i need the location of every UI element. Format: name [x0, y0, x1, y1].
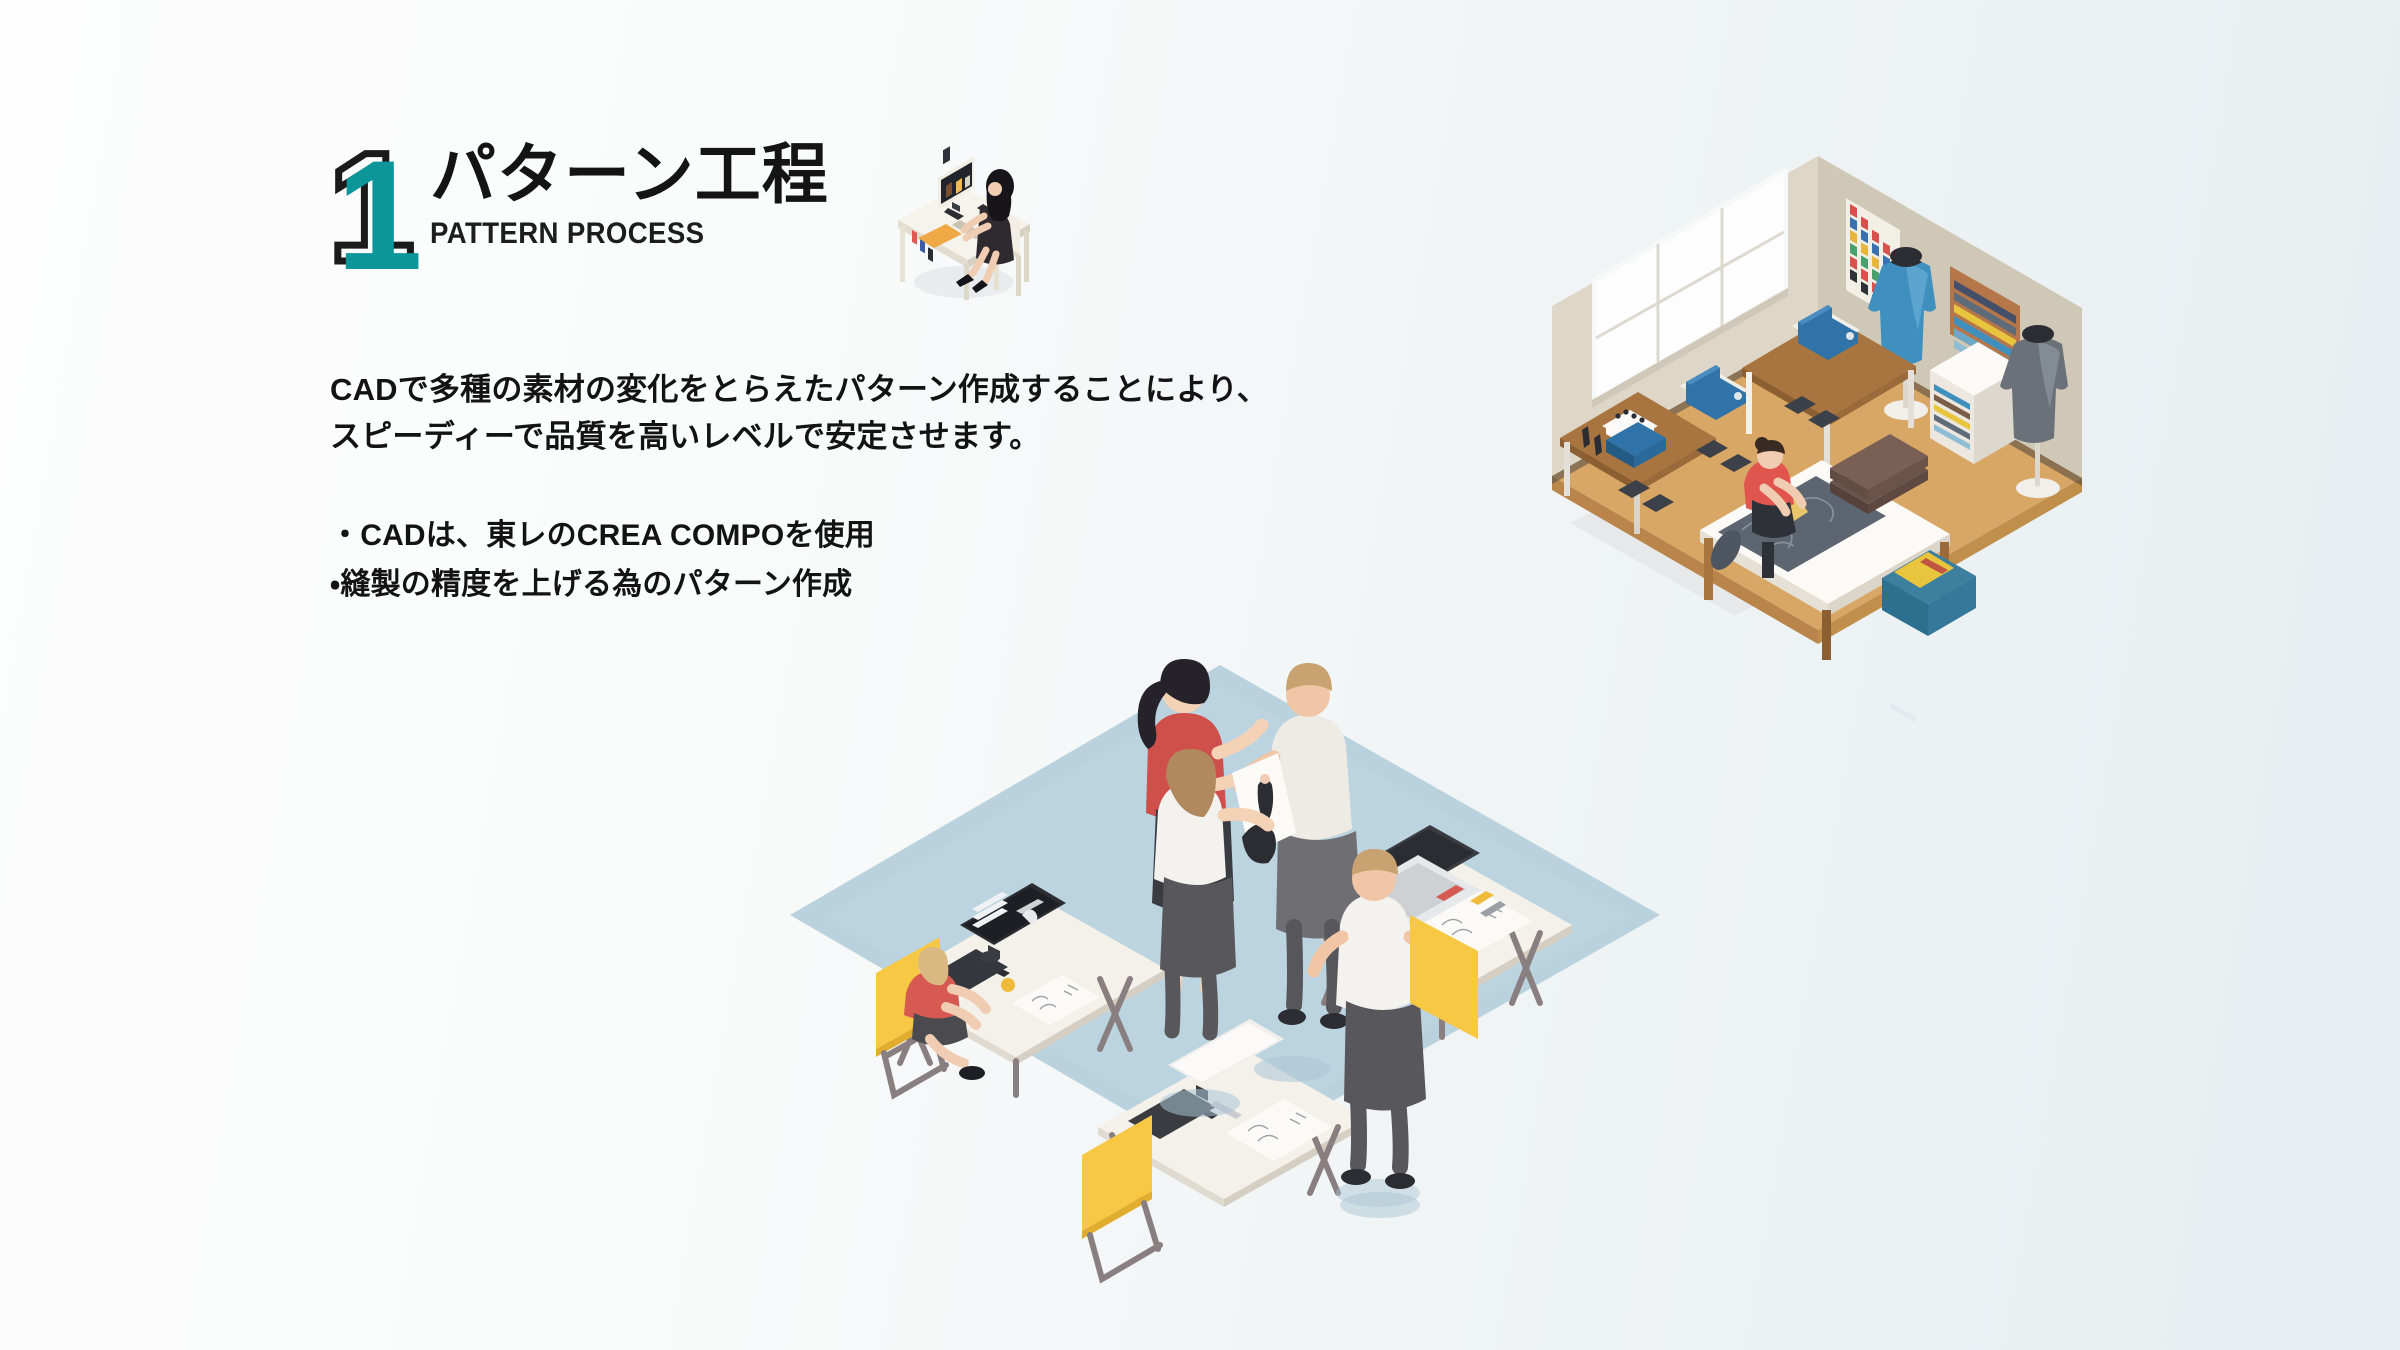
step-number-fill: 1	[336, 138, 421, 294]
page-title-japanese: パターン工程	[430, 140, 829, 209]
bullet-item-2: ・縫製の精度を上げる為のパターン作成	[330, 561, 875, 610]
feature-bullet-list: ・CADは、東レのCREA COMPOを使用 ・縫製の精度を上げる為のパターン作…	[330, 512, 875, 609]
isometric-tailoring-workshop-illustration	[1530, 138, 2100, 668]
bullet-item-1: ・CADは、東レのCREA COMPOを使用	[330, 512, 875, 561]
title-group: パターン工程 PATTERN PROCESS	[430, 140, 829, 251]
header-block: 1 1 パターン工程 PATTERN PROCESS	[322, 140, 1422, 310]
description-line-1: CADで多種の素材の変化をとらえたパターン作成することにより、	[330, 366, 1490, 413]
step-number-badge: 1 1	[322, 152, 414, 282]
isometric-design-studio-illustration	[780, 625, 1660, 1195]
description-line-2: スピーディーで品質を高いレベルで安定させます。	[330, 413, 1490, 460]
page-title-english: PATTERN PROCESS	[430, 217, 797, 251]
woman-at-desk-icon	[888, 142, 1038, 302]
description-paragraph: CADで多種の素材の変化をとらえたパターン作成することにより、 スピーディーで品…	[330, 366, 1490, 460]
